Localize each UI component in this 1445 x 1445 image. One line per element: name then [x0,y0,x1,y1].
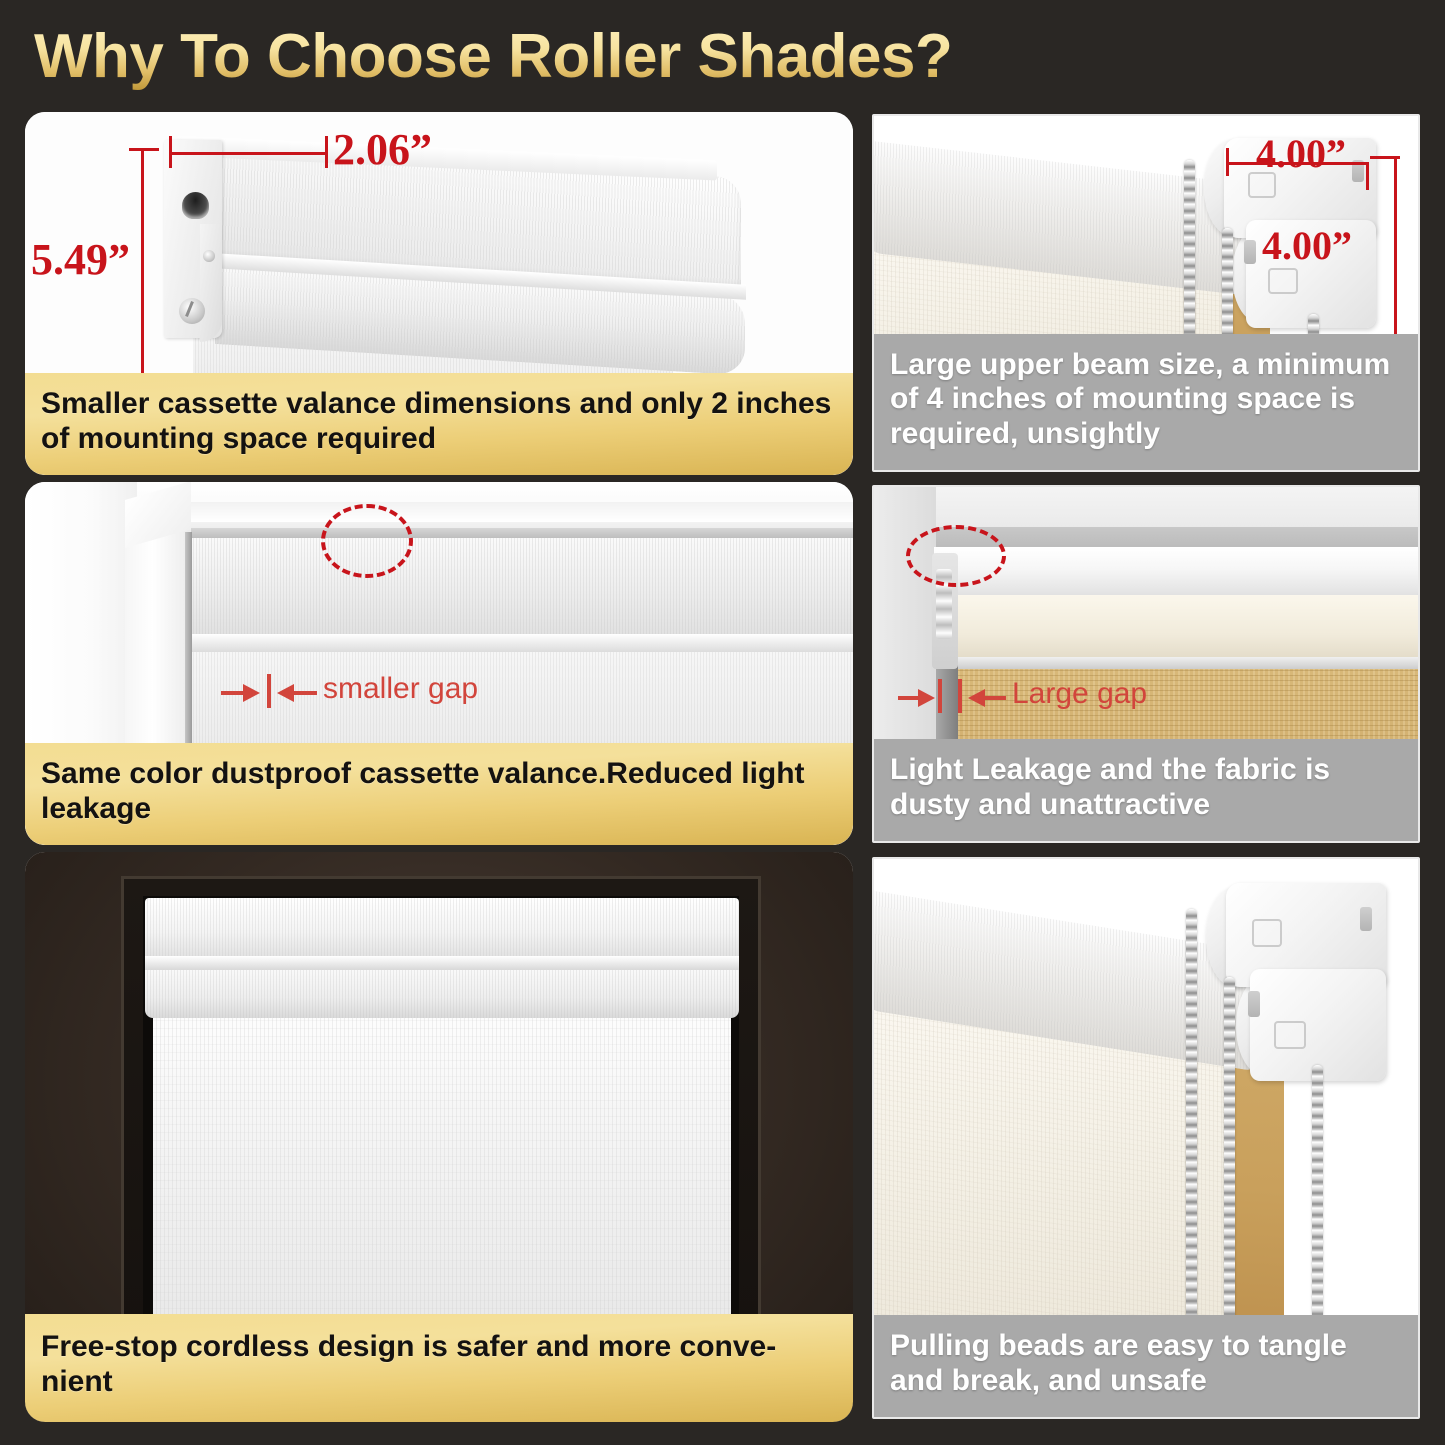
highlight-ellipse [321,504,413,578]
cassette-slot-icon [182,192,209,219]
gap-arrow-left-tail [898,696,920,700]
gap-arrow-left-icon [918,689,935,707]
beam-width-tick-left [1226,148,1229,176]
gap-arrow-left-tail [221,691,245,695]
beam-height-dimension-line [1394,156,1397,352]
bracket-notch-2 [1244,240,1256,264]
width-dimension-tick-right [325,136,328,168]
window-frame-bevel [175,502,853,522]
roller-shade-fabric [153,1014,731,1324]
panel-6-caption: Pulling beads are easy to tangle and bre… [874,1315,1418,1417]
height-dimension-tick-top [129,148,159,151]
panel-2-card: 4.00” 4.00” Large upper beam size, a min… [872,114,1420,472]
highlight-ellipse [906,525,1006,587]
height-dimension-label: 5.49” [31,234,130,285]
panel-1-caption: Smaller cassette valance dimensions and … [25,373,853,475]
height-dimension-line [141,148,144,404]
gap-arrow-left-icon [243,684,260,702]
infographic-page: Why To Choose Roller Shades? 2.06” [0,0,1445,1445]
bead-chain-right [1312,1065,1323,1349]
beam-width-label: 4.00” [1256,130,1346,177]
gap-marker-tick [267,674,271,708]
width-dimension-label: 2.06” [333,124,432,175]
shade-head-rail [145,898,739,960]
panel-5-card: Free-stop cordless design is safer and m… [25,852,853,1422]
shade-valance-roll [145,966,739,1018]
bracket-emboss-2-icon [1274,1021,1306,1049]
gap-arrow-right-icon [277,684,294,702]
bead-chain-mid [1224,977,1235,1349]
panel-6-card: Pulling beads are easy to tangle and bre… [872,857,1420,1419]
cassette-screw-upper-icon [203,250,215,262]
gap-arrow-right-tail [293,691,317,695]
beam-height-label: 4.00” [1262,222,1352,269]
bracket-notch-2 [1248,991,1260,1017]
beam-height-tick-top [1370,156,1400,159]
bracket-notch-1 [1360,907,1372,931]
gap-arrow-right-tail [984,696,1006,700]
bracket-emboss-icon [1252,919,1282,947]
panel-1-card: 2.06” 5.49” Smaller cassette valance dim… [25,112,853,475]
bead-chain-left [1186,909,1197,1349]
shade-head-lip [145,956,739,970]
page-title: Why To Choose Roller Shades? [34,22,1034,92]
large-gap-label: Large gap [1012,677,1147,711]
beam-width-tick-right [1366,162,1369,190]
gap-marker-tick-left [938,679,942,713]
width-dimension-tick-left [169,136,172,168]
panel-4-caption: Light Leakage and the fabric is dusty an… [874,739,1418,841]
shade-band-upper [191,538,853,638]
panel-3-card: smaller gap Same color dustproof cassett… [25,482,853,845]
shade-band-lip [191,634,853,652]
panel-grid: 2.06” 5.49” Smaller cassette valance dim… [0,100,1445,1445]
smaller-gap-label: smaller gap [323,672,478,706]
gap-arrow-right-icon [968,689,985,707]
panel-3-caption: Same color dustproof cassette valance.Re… [25,743,853,845]
cream-fabric-band [946,595,1418,661]
panel-2-caption: Large upper beam size, a minimum of 4 in… [874,334,1418,470]
gap-marker-tick-right [958,679,962,713]
cassette-screw-lower-icon [179,298,205,324]
width-dimension-line [171,152,327,155]
panel-4-card: Large gap Light Leakage and the fabric i… [872,485,1420,843]
bracket-emboss-2-icon [1268,268,1298,294]
panel-5-caption: Free-stop cordless design is safer and m… [25,1314,853,1422]
